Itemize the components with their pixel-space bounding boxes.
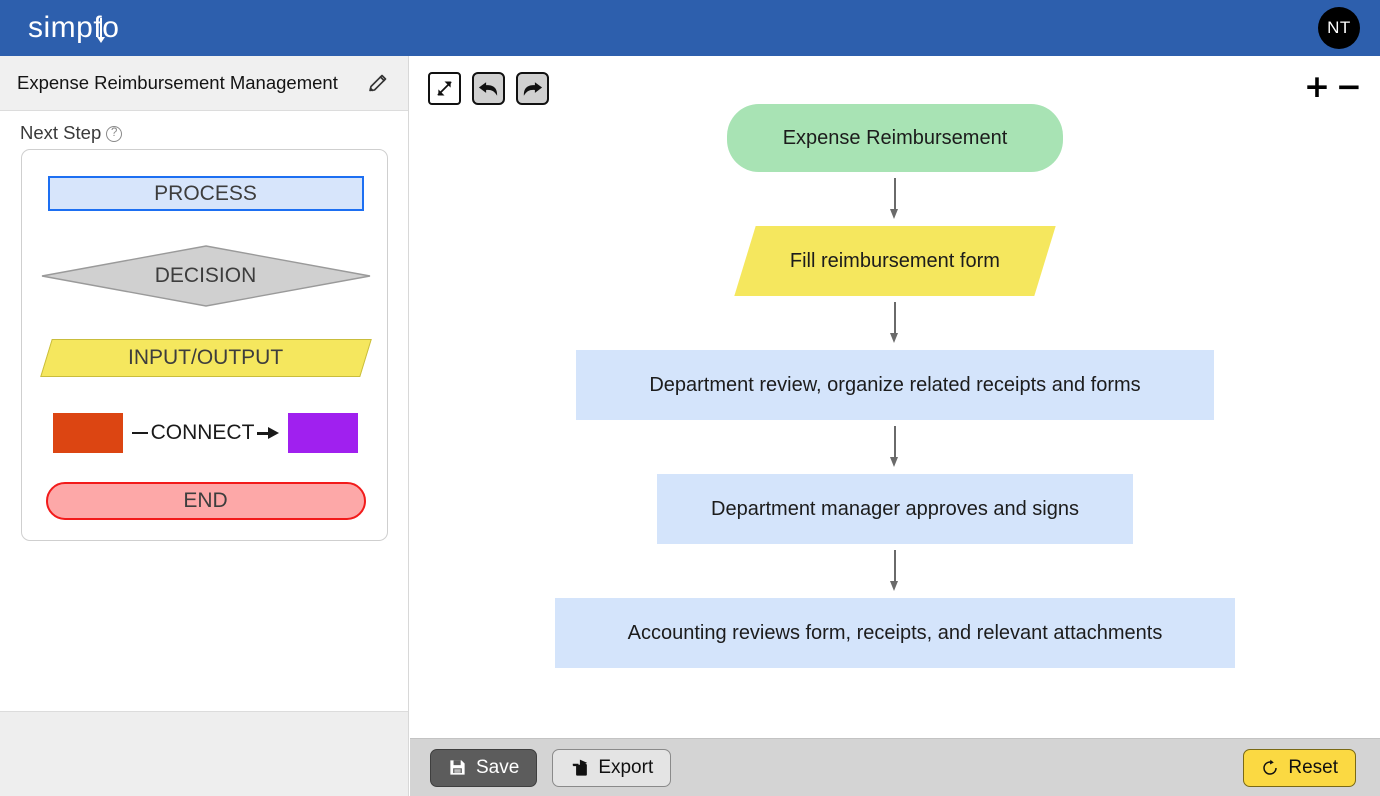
expand-button[interactable] bbox=[428, 72, 461, 105]
sidebar-footer-panel bbox=[0, 711, 408, 796]
flow-node-process[interactable]: Department review, organize related rece… bbox=[576, 350, 1214, 420]
export-label: Export bbox=[598, 757, 653, 779]
flow-node-row: Expense Reimbursement bbox=[410, 104, 1380, 172]
legend-label-input-output: INPUT/OUTPUT bbox=[128, 346, 283, 370]
footer-left-group: Save Export bbox=[430, 749, 671, 787]
flow-connector bbox=[410, 172, 1380, 226]
legend-shape-process[interactable]: PROCESS bbox=[48, 176, 364, 211]
arrow-tip bbox=[890, 457, 898, 467]
legend-row-input-output[interactable]: INPUT/OUTPUT bbox=[22, 339, 389, 377]
undo-icon bbox=[477, 79, 500, 99]
undo-button[interactable] bbox=[472, 72, 505, 105]
top-header-bar: simpfo NT bbox=[0, 0, 1380, 56]
arrow-line bbox=[894, 550, 896, 583]
app-logo[interactable]: simpfo bbox=[28, 13, 119, 43]
legend-shape-input-output[interactable]: INPUT/OUTPUT bbox=[40, 339, 372, 377]
export-icon bbox=[570, 758, 589, 777]
flow-node-process[interactable]: Accounting reviews form, receipts, and r… bbox=[555, 598, 1235, 668]
save-button[interactable]: Save bbox=[430, 749, 537, 787]
legend-row-end[interactable]: END bbox=[22, 482, 389, 520]
legend-row-process[interactable]: PROCESS bbox=[22, 176, 389, 211]
flowchart-nodes: Expense Reimbursement Fill reimbursement… bbox=[410, 104, 1380, 668]
flow-node-row: Department review, organize related rece… bbox=[410, 350, 1380, 420]
sidebar-title-bar: Expense Reimbursement Management bbox=[0, 56, 408, 111]
legend-connect-midgroup: CONNECT bbox=[123, 421, 289, 445]
next-step-row: Next Step ? bbox=[0, 111, 408, 151]
zoom-out-button[interactable]: − bbox=[1336, 76, 1362, 98]
arrow-line bbox=[894, 178, 896, 211]
help-icon[interactable]: ? bbox=[106, 126, 122, 142]
flow-connector bbox=[410, 420, 1380, 474]
zoom-in-button[interactable]: + bbox=[1304, 76, 1330, 98]
redo-button[interactable] bbox=[516, 72, 549, 105]
arrow-right-icon bbox=[257, 427, 279, 439]
legend-shape-end[interactable]: END bbox=[46, 482, 366, 520]
connector-line-icon bbox=[132, 432, 148, 434]
flow-node-label: Department review, organize related rece… bbox=[649, 374, 1140, 397]
expand-icon bbox=[434, 78, 455, 99]
arrow-down-icon bbox=[889, 426, 901, 468]
refresh-icon bbox=[1261, 759, 1279, 777]
arrow-down-icon bbox=[889, 550, 901, 592]
legend-shape-decision[interactable]: DECISION bbox=[41, 245, 371, 307]
flow-node-label: Accounting reviews form, receipts, and r… bbox=[628, 622, 1163, 645]
arrow-tip bbox=[890, 581, 898, 591]
flow-connector bbox=[410, 544, 1380, 598]
reset-button[interactable]: Reset bbox=[1243, 749, 1356, 787]
arrow-tip bbox=[890, 333, 898, 343]
redo-icon bbox=[521, 79, 544, 99]
flow-node-row: Department manager approves and signs bbox=[410, 474, 1380, 544]
flow-node-label: Expense Reimbursement bbox=[783, 127, 1008, 150]
flow-node-label: Department manager approves and signs bbox=[711, 498, 1079, 521]
save-icon bbox=[448, 758, 467, 777]
flow-node-input-output[interactable]: Fill reimbursement form bbox=[734, 226, 1055, 296]
arrow-down-icon bbox=[889, 178, 901, 220]
shape-legend-panel: PROCESS DECISION INPUT/OUTPUT bbox=[21, 149, 388, 541]
legend-row-decision[interactable]: DECISION bbox=[22, 245, 389, 307]
flow-node-process[interactable]: Department manager approves and signs bbox=[657, 474, 1133, 544]
page-title: Expense Reimbursement Management bbox=[17, 72, 338, 94]
flowchart-canvas[interactable]: + − Expense Reimbursement Fill reimburse… bbox=[410, 56, 1380, 738]
arrow-tip bbox=[890, 209, 898, 219]
legend-swatch-from[interactable] bbox=[53, 413, 123, 453]
next-step-label: Next Step bbox=[20, 122, 101, 144]
flow-connector bbox=[410, 296, 1380, 350]
legend-label-connect: CONNECT bbox=[151, 421, 255, 445]
zoom-controls: + − bbox=[1304, 76, 1362, 98]
legend-row-connect[interactable]: CONNECT bbox=[22, 413, 389, 453]
avatar[interactable]: NT bbox=[1318, 7, 1360, 49]
arrow-head bbox=[268, 427, 279, 439]
app-root: simpfo NT Expense Reimbursement Manageme… bbox=[0, 0, 1380, 796]
reset-label: Reset bbox=[1288, 757, 1338, 779]
save-label: Save bbox=[476, 757, 519, 779]
avatar-initials: NT bbox=[1327, 18, 1351, 38]
arrow-line bbox=[894, 302, 896, 335]
arrow-down-icon bbox=[889, 302, 901, 344]
logo-arrow-head bbox=[97, 37, 105, 43]
logo-fl-ligature: f bbox=[93, 13, 102, 43]
flow-node-row: Fill reimbursement form bbox=[410, 226, 1380, 296]
bottom-action-bar: Save Export Reset bbox=[410, 738, 1380, 796]
flow-node-start[interactable]: Expense Reimbursement bbox=[727, 104, 1063, 172]
pencil-icon[interactable] bbox=[366, 71, 390, 95]
logo-text-simp: simp bbox=[28, 13, 93, 43]
legend-label-decision: DECISION bbox=[155, 264, 257, 288]
sidebar: Expense Reimbursement Management Next St… bbox=[0, 56, 409, 796]
canvas-toolbar bbox=[428, 72, 549, 105]
legend-label-end: END bbox=[183, 489, 227, 513]
flow-node-row: Accounting reviews form, receipts, and r… bbox=[410, 598, 1380, 668]
flow-node-label: Fill reimbursement form bbox=[790, 250, 1000, 273]
legend-swatch-to[interactable] bbox=[288, 413, 358, 453]
export-button[interactable]: Export bbox=[552, 749, 671, 787]
arrow-line bbox=[894, 426, 896, 459]
legend-label-process: PROCESS bbox=[154, 182, 257, 206]
